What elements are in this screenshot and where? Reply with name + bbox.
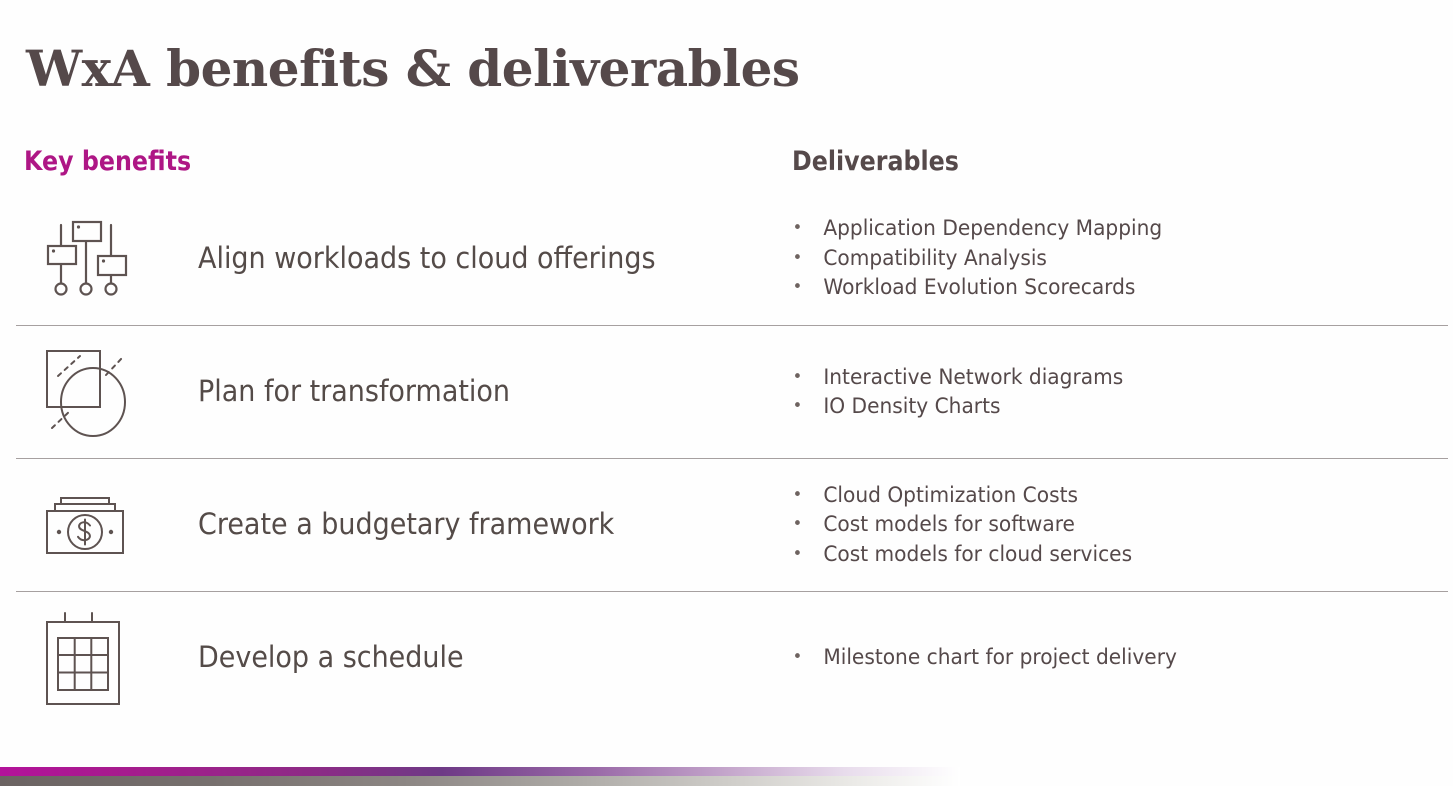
list-item: Application Dependency Mapping	[783, 214, 1426, 244]
benefit-label: Develop a schedule	[198, 641, 464, 674]
slide-canvas: WxA benefits & deliverables Key benefits…	[0, 0, 1453, 786]
list-item: IO Density Charts	[783, 392, 1421, 422]
deliverables-list: Application Dependency Mapping Compatibi…	[783, 214, 1453, 303]
table-row: Align workloads to cloud offerings Appli…	[0, 192, 1453, 325]
list-item: Workload Evolution Scorecards	[783, 273, 1426, 303]
accent-bar-gray	[0, 776, 960, 786]
benefit-cell: Align workloads to cloud offerings	[0, 213, 770, 305]
table-row: Create a budgetary framework Cloud Optim…	[16, 458, 1448, 591]
list-item: Cost models for software	[783, 510, 1421, 540]
list-item: Compatibility Analysis	[783, 244, 1426, 274]
list-item: Cloud Optimization Costs	[783, 481, 1421, 511]
footer-accent-bars	[0, 760, 1453, 786]
benefit-label: Align workloads to cloud offerings	[198, 242, 656, 275]
deliverables-list: Cloud Optimization Costs Cost models for…	[783, 481, 1448, 570]
deliverables-cell: Cloud Optimization Costs Cost models for…	[770, 481, 1448, 570]
list-item: Milestone chart for project delivery	[783, 643, 1421, 673]
calendar-icon	[44, 612, 128, 704]
benefits-table: Align workloads to cloud offerings Appli…	[0, 192, 1453, 724]
list-item: Interactive Network diagrams	[783, 363, 1421, 393]
column-heading-key-benefits: Key benefits	[24, 148, 191, 175]
deliverables-list: Interactive Network diagrams IO Density …	[783, 363, 1448, 422]
accent-bar-magenta	[0, 767, 960, 776]
deliverables-cell: Interactive Network diagrams IO Density …	[770, 363, 1448, 422]
deliverables-list: Milestone chart for project delivery	[783, 643, 1448, 673]
money-stack-icon	[44, 479, 128, 571]
table-row: Develop a schedule Milestone chart for p…	[16, 591, 1448, 724]
deliverables-cell: Milestone chart for project delivery	[770, 643, 1448, 673]
benefit-label: Create a budgetary framework	[198, 508, 614, 541]
deliverables-cell: Application Dependency Mapping Compatibi…	[770, 214, 1453, 303]
benefit-cell: Plan for transformation	[0, 346, 770, 438]
table-row: Plan for transformation Interactive Netw…	[16, 325, 1448, 458]
shapes-overlap-icon	[44, 346, 128, 438]
column-heading-deliverables: Deliverables	[792, 148, 959, 175]
sliders-icon	[44, 213, 128, 305]
page-title: WxA benefits & deliverables	[26, 44, 800, 94]
benefit-label: Plan for transformation	[198, 375, 510, 408]
benefit-cell: Develop a schedule	[0, 612, 770, 704]
benefit-cell: Create a budgetary framework	[0, 479, 770, 571]
list-item: Cost models for cloud services	[783, 540, 1421, 570]
